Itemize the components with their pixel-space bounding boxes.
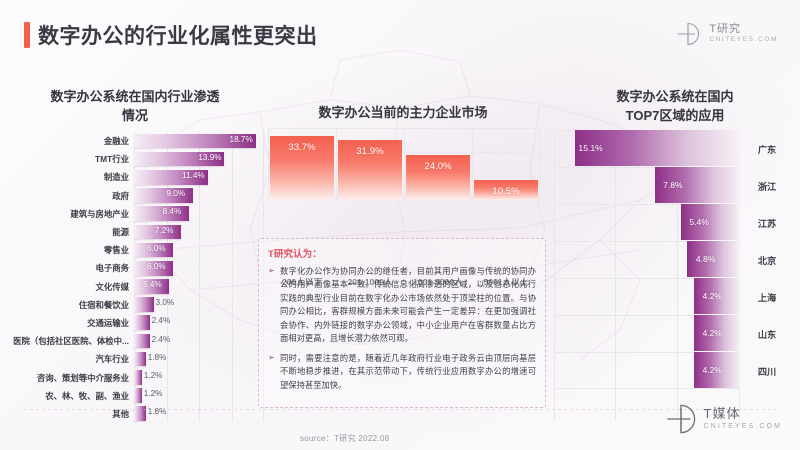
bar-category-label: 上海 — [744, 290, 790, 304]
bar-row: 咨询、策划等中介服务业1.2% — [6, 368, 264, 386]
bar-value-label: 33.7% — [270, 142, 334, 153]
bar-category-label: 建筑与房地产业 — [6, 208, 134, 220]
bar-category-label: 汽车行业 — [6, 353, 134, 365]
bar-value-label: 7.2% — [155, 226, 174, 235]
bar-category-label: 医院（包括社区医院、体检中... — [6, 335, 134, 347]
bar-category-label: 政府 — [6, 190, 134, 202]
bar-value-label: 24.0% — [406, 161, 470, 172]
bar-category-label: TMT行业 — [6, 153, 134, 165]
footer-watermark: T媒体 CNITEYES.COM — [664, 402, 782, 436]
brand-name: T研究 — [709, 24, 778, 36]
callout-text: 同时，需要注意的是，随着近几年政府行业电子政务云由顶层向基层不断地稳步推进，在其… — [280, 352, 536, 392]
bar-track: 4.2% — [554, 278, 740, 315]
header: 数字办公的行业化属性更突出 T研究 CNITEYES.COM — [0, 0, 800, 66]
callout-box: T研究认为： ➢数字化办公作为协同办公的继任者，目前其用户画像与传统的协同办公的… — [258, 238, 546, 408]
industry-penetration-chart: 金融业18.7%TMT行业13.9%制造业11.4%政府9.0%建筑与房地产业8… — [6, 132, 264, 422]
middle-chart-title: 数字办公当前的主力企业市场 — [258, 104, 548, 123]
bar-value-label: 7.8% — [663, 180, 683, 190]
bar-value-label: 11.4% — [182, 171, 205, 180]
bar-row: 4.2%上海 — [548, 278, 798, 315]
bar-category-label: 文化传媒 — [6, 281, 134, 293]
bar-category-label: 交通运输业 — [6, 317, 134, 329]
left-chart-title-line1: 数字办公系统在国内行业渗透 — [14, 88, 256, 107]
bar-row: TMT行业13.9% — [6, 150, 264, 168]
bar-value-label: 31.9% — [338, 146, 402, 157]
bar-row: 零售业6.0% — [6, 241, 264, 259]
bar-row: 政府9.0% — [6, 187, 264, 205]
bar-track: 15.1% — [554, 130, 740, 167]
bar-category-label: 四川 — [744, 364, 790, 378]
bar-row: 能源7.2% — [6, 223, 264, 241]
bar-row: 4.2%山东 — [548, 315, 798, 352]
bar-row: 4.2%四川 — [548, 352, 798, 389]
bar-track: 1.2% — [134, 368, 264, 386]
bar-row: 建筑与房地产业8.4% — [6, 205, 264, 223]
bar-value-label: 2.4% — [152, 316, 171, 325]
bar-category-label: 山东 — [744, 327, 790, 341]
t-logo-icon — [674, 20, 702, 48]
bar-value-label: 5.4% — [689, 217, 709, 227]
bar-track: 5.4% — [554, 204, 740, 241]
bar-value-label: 18.7% — [230, 135, 253, 144]
bar-row: 其他1.8% — [6, 405, 264, 423]
bar-value-label: 13.9% — [198, 153, 221, 162]
bar-value-label: 1.8% — [148, 353, 167, 362]
bar-value-label: 15.1% — [578, 143, 602, 153]
bar-track: 2.4% — [134, 314, 264, 332]
bar — [134, 370, 142, 385]
bar-value-label: 5.4% — [143, 280, 162, 289]
bar — [134, 352, 146, 367]
bar-category-label: 浙江 — [744, 179, 790, 193]
bar-row: 医院（包括社区医院、体检中...2.4% — [6, 332, 264, 350]
page-title: 数字办公的行业化属性更突出 — [38, 20, 318, 50]
top7-regions-chart: 15.1%广东7.8%浙江5.4%江苏4.8%北京4.2%上海4.2%山东4.2… — [548, 130, 798, 420]
callout-bullet: ➢同时，需要注意的是，随着近几年政府行业电子政务云由顶层向基层不断地稳步推进，在… — [268, 352, 536, 392]
callout-heading: T研究认为： — [268, 246, 536, 260]
t-logo-icon — [664, 402, 698, 436]
bar-value-label: 1.2% — [144, 371, 163, 380]
bar-track: 2.4% — [134, 332, 264, 350]
slide-canvas: 数字办公的行业化属性更突出 T研究 CNITEYES.COM 数字办公系统在国内… — [0, 0, 800, 450]
watermark-name: T媒体 — [704, 407, 782, 421]
bar-value-label: 4.8% — [696, 254, 716, 264]
bar-value-label: 6.0% — [147, 244, 166, 253]
bar-value-label: 10.5% — [474, 186, 538, 197]
bar-row: 住宿和餐饮业3.0% — [6, 296, 264, 314]
bar-track: 7.8% — [554, 167, 740, 204]
bar-row: 15.1%广东 — [548, 130, 798, 167]
bar — [134, 388, 142, 403]
bar-row: 4.8%北京 — [548, 241, 798, 278]
bar-value-label: 4.2% — [702, 365, 722, 375]
bar-track: 13.9% — [134, 150, 264, 168]
enterprise-market-chart: 33.7%200人以下31.9%201-1000人24.0%1001-5000人… — [258, 128, 548, 224]
bar-row: 金融业18.7% — [6, 132, 264, 150]
bar-value-label: 2.4% — [152, 335, 171, 344]
bar-track: 7.2% — [134, 223, 264, 241]
bar-value-label: 8.4% — [163, 207, 182, 216]
bar-category-label: 零售业 — [6, 244, 134, 256]
source-note: source：T研究 2022.08 — [300, 433, 389, 444]
bar-track: 3.0% — [134, 296, 264, 314]
left-chart-title: 数字办公系统在国内行业渗透 情况 — [14, 88, 256, 126]
bar-category-label: 江苏 — [744, 216, 790, 230]
bar-value-label: 1.2% — [144, 389, 163, 398]
right-chart-title: 数字办公系统在国内 TOP7区域的应用 — [560, 88, 790, 126]
brand-logo: T研究 CNITEYES.COM — [674, 20, 778, 48]
bar-track: 6.0% — [134, 259, 264, 277]
bar-row: 7.8%浙江 — [548, 167, 798, 204]
bar-track: 4.8% — [554, 241, 740, 278]
watermark-sub: CNITEYES.COM — [704, 423, 782, 431]
bar-track: 4.2% — [554, 352, 740, 389]
callout-bullet: ➢数字化办公作为协同办公的继任者，目前其用户画像与传统的协同办公的用户画像基本一… — [268, 265, 536, 346]
bar-category-label: 广东 — [744, 142, 790, 156]
bar-category-label: 能源 — [6, 226, 134, 238]
bar-track: 1.8% — [134, 350, 264, 368]
bar-row: 电子商务6.0% — [6, 259, 264, 277]
bar-category-label: 制造业 — [6, 171, 134, 183]
bar-category-label: 住宿和餐饮业 — [6, 299, 134, 311]
bar-value-label: 4.2% — [702, 291, 722, 301]
bar-row: 5.4%江苏 — [548, 204, 798, 241]
bar-track: 9.0% — [134, 187, 264, 205]
bar-row: 制造业11.4% — [6, 168, 264, 186]
bar-track: 8.4% — [134, 205, 264, 223]
bar-track: 18.7% — [134, 132, 264, 150]
bar-row: 汽车行业1.8% — [6, 350, 264, 368]
middle-chart-plot: 33.7%200人以下31.9%201-1000人24.0%1001-5000人… — [268, 128, 542, 200]
bar-row: 文化传媒5.4% — [6, 278, 264, 296]
bar-category-label: 电子商务 — [6, 262, 134, 274]
bar-category-label: 北京 — [744, 253, 790, 267]
title-accent-bar — [24, 22, 30, 48]
right-chart-title-line1: 数字办公系统在国内 — [560, 88, 790, 107]
bar-value-label: 9.0% — [167, 189, 186, 198]
left-chart-title-line2: 情况 — [14, 107, 256, 126]
bar — [134, 297, 154, 312]
bar-track: 6.0% — [134, 241, 264, 259]
bar-value-label: 4.2% — [702, 328, 722, 338]
bar-track: 4.2% — [554, 315, 740, 352]
bar-track: 1.8% — [134, 405, 264, 423]
bar — [134, 334, 150, 349]
brand-sub: CNITEYES.COM — [709, 37, 778, 44]
callout-text: 数字化办公作为协同办公的继任者，目前其用户画像与传统的协同办公的用户画像基本一致… — [280, 265, 536, 346]
bar-row: 交通运输业2.4% — [6, 314, 264, 332]
bar-value-label: 6.0% — [147, 262, 166, 271]
bullet-arrow-icon: ➢ — [268, 265, 280, 346]
bar-track: 1.2% — [134, 387, 264, 405]
bar-value-label: 3.0% — [156, 298, 175, 307]
bar-track: 11.4% — [134, 168, 264, 186]
bar-category-label: 金融业 — [6, 135, 134, 147]
bar-category-label: 咨询、策划等中介服务业 — [6, 372, 134, 384]
bar — [134, 315, 150, 330]
bar-track: 5.4% — [134, 278, 264, 296]
bar-category-label: 农、林、牧、副、渔业 — [6, 390, 134, 402]
bar-row: 农、林、牧、副、渔业1.2% — [6, 387, 264, 405]
right-chart-title-line2: TOP7区域的应用 — [560, 107, 790, 126]
bullet-arrow-icon: ➢ — [268, 352, 280, 392]
